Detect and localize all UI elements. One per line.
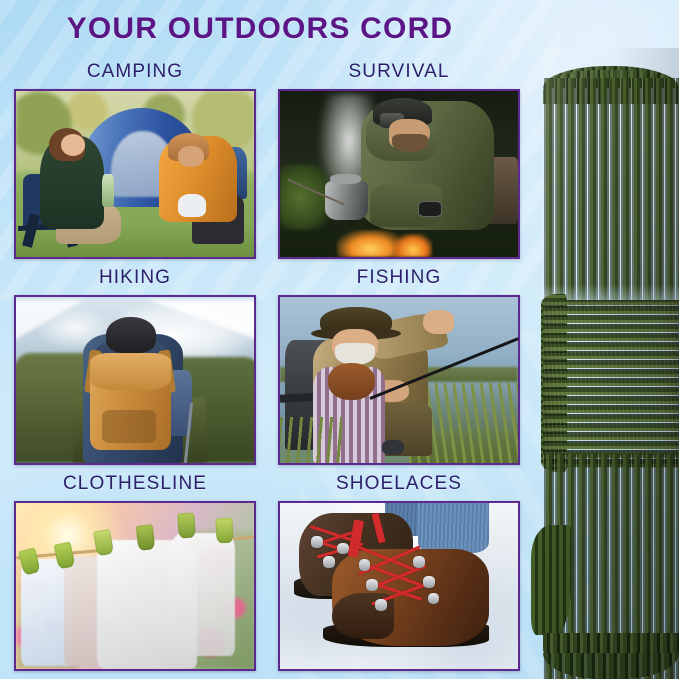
use-case-photo-hiking bbox=[14, 295, 256, 465]
clothespin-icon bbox=[177, 512, 195, 538]
use-case-label-clothesline: CLOTHESLINE bbox=[14, 472, 256, 496]
use-case-hiking: HIKING bbox=[14, 266, 256, 465]
use-case-row-2: HIKING bbox=[14, 266, 520, 465]
use-case-shoelaces: SHOELACES bbox=[278, 472, 520, 671]
use-case-photo-camping bbox=[14, 89, 256, 259]
page-title: YOUR OUTDOORS CORD bbox=[0, 12, 520, 46]
product-infographic: YOUR OUTDOORS CORD CAMPING bbox=[0, 0, 679, 679]
use-case-row-1: CAMPING bbox=[14, 60, 520, 259]
use-case-clothesline: CLOTHESLINE bbox=[14, 472, 256, 671]
use-case-row-3: CLOTHESLINE bbox=[14, 472, 520, 671]
use-case-label-fishing: FISHING bbox=[278, 266, 520, 290]
use-case-label-camping: CAMPING bbox=[14, 60, 256, 84]
use-case-fishing: FISHING bbox=[278, 266, 520, 465]
use-case-camping: CAMPING bbox=[14, 60, 256, 259]
use-case-photo-shoelaces bbox=[278, 501, 520, 671]
use-case-label-survival: SURVIVAL bbox=[278, 60, 520, 84]
clothespin-icon bbox=[136, 524, 155, 550]
use-case-photo-clothesline bbox=[14, 501, 256, 671]
product-paracord-coil bbox=[543, 48, 679, 679]
clothespin-icon bbox=[215, 518, 233, 544]
use-case-photo-fishing bbox=[278, 295, 520, 465]
use-case-photo-survival bbox=[278, 89, 520, 259]
use-case-grid: CAMPING bbox=[14, 60, 520, 678]
use-case-label-hiking: HIKING bbox=[14, 266, 256, 290]
use-case-label-shoelaces: SHOELACES bbox=[278, 472, 520, 496]
use-case-survival: SURVIVAL bbox=[278, 60, 520, 259]
